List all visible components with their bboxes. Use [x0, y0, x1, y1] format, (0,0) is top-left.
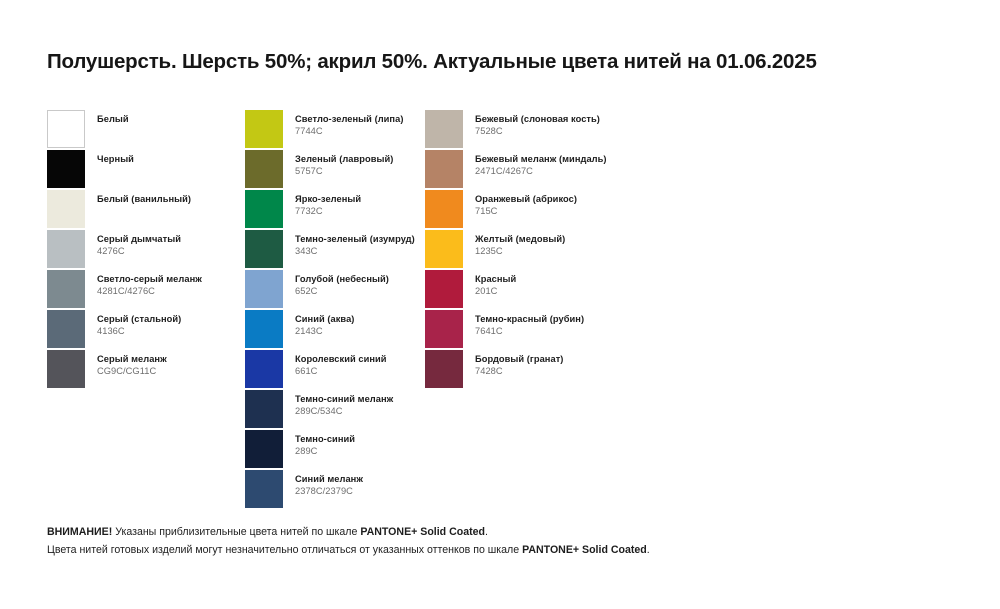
- pantone-code: 7428C: [475, 365, 563, 377]
- color-swatch[interactable]: [47, 350, 85, 388]
- pantone-code: 289C/534C: [295, 405, 393, 417]
- color-swatch[interactable]: [425, 150, 463, 188]
- pantone-code: 4276C: [97, 245, 181, 257]
- color-name: Голубой (небесный): [295, 273, 389, 285]
- color-labels: Королевский синий661C: [295, 353, 387, 377]
- color-labels: Светло-зеленый (липа)7744C: [295, 113, 403, 137]
- color-swatch[interactable]: [245, 110, 283, 148]
- pantone-code: 343C: [295, 245, 415, 257]
- pantone-code: 652C: [295, 285, 389, 297]
- color-swatch[interactable]: [47, 110, 85, 148]
- color-name: Темно-синий меланж: [295, 393, 393, 405]
- color-labels: Ярко-зеленый7732C: [295, 193, 361, 217]
- color-labels: Бежевый (слоновая кость)7528C: [475, 113, 600, 137]
- footer-line-1-end: .: [485, 526, 488, 538]
- color-labels: Серый меланжCG9C/CG11C: [97, 353, 167, 377]
- footer-line-1: ВНИМАНИЕ! Указаны приблизительные цвета …: [47, 524, 967, 542]
- color-name: Бордовый (гранат): [475, 353, 563, 365]
- color-swatch[interactable]: [425, 350, 463, 388]
- pantone-code: 7641C: [475, 325, 584, 337]
- color-swatch[interactable]: [245, 190, 283, 228]
- attention-label: ВНИМАНИЕ!: [47, 526, 112, 538]
- color-swatch[interactable]: [425, 230, 463, 268]
- footer-line-1-text: Указаны приблизительные цвета нитей по ш…: [112, 526, 360, 538]
- color-name: Черный: [97, 153, 134, 165]
- color-name: Королевский синий: [295, 353, 387, 365]
- color-labels: Белый (ванильный): [97, 193, 191, 205]
- pantone-code: 7732C: [295, 205, 361, 217]
- color-name: Белый: [97, 113, 129, 125]
- pantone-code: 4136C: [97, 325, 181, 337]
- color-swatch[interactable]: [47, 270, 85, 308]
- color-labels: Синий (аква)2143C: [295, 313, 354, 337]
- color-labels: Черный: [97, 153, 134, 165]
- pantone-code: 2471C/4267C: [475, 165, 607, 177]
- color-name: Серый меланж: [97, 353, 167, 365]
- color-name: Светло-зеленый (липа): [295, 113, 403, 125]
- color-swatch[interactable]: [245, 230, 283, 268]
- color-name: Оранжевый (абрикос): [475, 193, 577, 205]
- color-labels: Желтый (медовый)1235C: [475, 233, 565, 257]
- pantone-brand-2: PANTONE+ Solid Coated: [522, 544, 647, 556]
- color-labels: Темно-красный (рубин)7641C: [475, 313, 584, 337]
- color-name: Белый (ванильный): [97, 193, 191, 205]
- color-labels: Белый: [97, 113, 129, 125]
- pantone-code: 1235C: [475, 245, 565, 257]
- page-title: Полушерсть. Шерсть 50%; акрил 50%. Актуа…: [47, 50, 967, 74]
- color-name: Темно-зеленый (изумруд): [295, 233, 415, 245]
- pantone-brand-1: PANTONE+ Solid Coated: [360, 526, 485, 538]
- color-swatch[interactable]: [47, 310, 85, 348]
- color-name: Зеленый (лавровый): [295, 153, 393, 165]
- footer-line-2: Цвета нитей готовых изделий могут незнач…: [47, 542, 967, 560]
- color-name: Темно-красный (рубин): [475, 313, 584, 325]
- color-swatch[interactable]: [425, 310, 463, 348]
- color-name: Бежевый меланж (миндаль): [475, 153, 607, 165]
- color-swatch[interactable]: [425, 190, 463, 228]
- color-swatch[interactable]: [47, 150, 85, 188]
- footer-line-2-end: .: [647, 544, 650, 556]
- color-name: Серый (стальной): [97, 313, 181, 325]
- color-labels: Серый дымчатый4276C: [97, 233, 181, 257]
- color-swatch[interactable]: [245, 150, 283, 188]
- pantone-code: CG9C/CG11C: [97, 365, 167, 377]
- color-labels: Синий меланж2378C/2379C: [295, 473, 363, 497]
- color-name: Синий (аква): [295, 313, 354, 325]
- color-swatch[interactable]: [47, 230, 85, 268]
- pantone-code: 7744C: [295, 125, 403, 137]
- pantone-code: 2378C/2379C: [295, 485, 363, 497]
- color-swatch[interactable]: [425, 110, 463, 148]
- color-labels: Бежевый меланж (миндаль)2471C/4267C: [475, 153, 607, 177]
- footer-line-2-text: Цвета нитей готовых изделий могут незнач…: [47, 544, 522, 556]
- pantone-code: 7528C: [475, 125, 600, 137]
- color-labels: Голубой (небесный)652C: [295, 273, 389, 297]
- color-name: Бежевый (слоновая кость): [475, 113, 600, 125]
- color-labels: Светло-серый меланж4281C/4276C: [97, 273, 202, 297]
- color-name: Желтый (медовый): [475, 233, 565, 245]
- color-swatch[interactable]: [245, 270, 283, 308]
- color-swatch[interactable]: [425, 270, 463, 308]
- color-swatch[interactable]: [245, 470, 283, 508]
- color-labels: Темно-синий289C: [295, 433, 355, 457]
- color-name: Серый дымчатый: [97, 233, 181, 245]
- color-name: Красный: [475, 273, 516, 285]
- color-name: Синий меланж: [295, 473, 363, 485]
- color-swatch[interactable]: [245, 350, 283, 388]
- color-labels: Серый (стальной)4136C: [97, 313, 181, 337]
- color-swatch[interactable]: [245, 390, 283, 428]
- color-labels: Зеленый (лавровый)5757C: [295, 153, 393, 177]
- color-labels: Темно-зеленый (изумруд)343C: [295, 233, 415, 257]
- color-swatch[interactable]: [47, 190, 85, 228]
- color-labels: Оранжевый (абрикос)715C: [475, 193, 577, 217]
- pantone-code: 715C: [475, 205, 577, 217]
- color-labels: Темно-синий меланж289C/534C: [295, 393, 393, 417]
- pantone-code: 4281C/4276C: [97, 285, 202, 297]
- color-labels: Бордовый (гранат)7428C: [475, 353, 563, 377]
- color-swatch[interactable]: [245, 310, 283, 348]
- color-swatch[interactable]: [245, 430, 283, 468]
- color-chart-page: Полушерсть. Шерсть 50%; акрил 50%. Актуа…: [0, 0, 1000, 609]
- pantone-code: 201C: [475, 285, 516, 297]
- color-name: Темно-синий: [295, 433, 355, 445]
- color-name: Ярко-зеленый: [295, 193, 361, 205]
- footer-notes: ВНИМАНИЕ! Указаны приблизительные цвета …: [47, 524, 967, 559]
- pantone-code: 5757C: [295, 165, 393, 177]
- pantone-code: 2143C: [295, 325, 354, 337]
- pantone-code: 289C: [295, 445, 355, 457]
- color-name: Светло-серый меланж: [97, 273, 202, 285]
- pantone-code: 661C: [295, 365, 387, 377]
- color-labels: Красный201C: [475, 273, 516, 297]
